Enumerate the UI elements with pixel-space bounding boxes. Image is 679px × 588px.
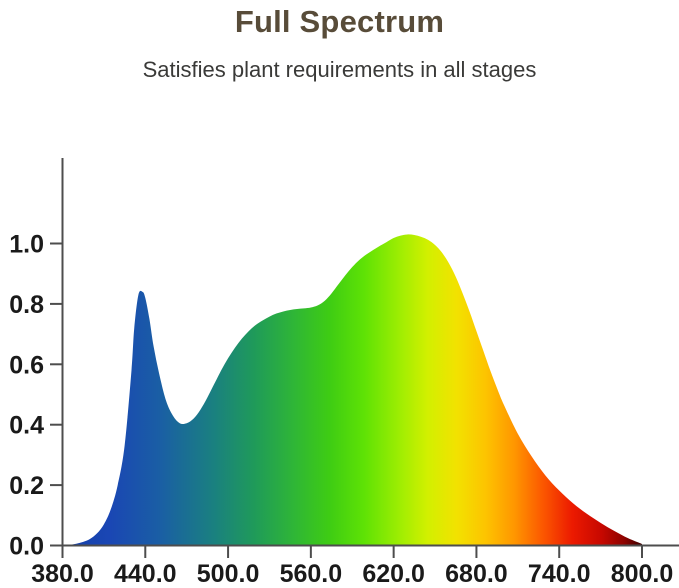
y-tick-label: 0.4	[9, 412, 44, 440]
chart-plot-area: 0.00.20.40.60.81.0 380.0440.0500.0560.06…	[0, 0, 679, 588]
x-tick-label: 680.0	[445, 560, 508, 588]
x-tick-label: 440.0	[114, 560, 177, 588]
x-tick-label: 560.0	[280, 560, 343, 588]
x-tick-label: 800.0	[611, 560, 674, 588]
x-axis-ticks: 380.0440.0500.0560.0620.0680.0740.0800.0	[31, 546, 673, 588]
spectrum-plot-svg: 0.00.20.40.60.81.0 380.0440.0500.0560.06…	[0, 0, 679, 588]
y-tick-label: 0.8	[9, 291, 44, 319]
x-tick-label: 500.0	[197, 560, 260, 588]
x-tick-label: 380.0	[31, 560, 94, 588]
y-tick-label: 0.0	[9, 533, 44, 561]
y-tick-label: 0.6	[9, 351, 44, 379]
spectrum-chart-page: Full Spectrum Satisfies plant requiremen…	[0, 0, 679, 588]
spectral-power-area	[63, 234, 643, 545]
x-tick-label: 740.0	[528, 560, 591, 588]
y-axis-ticks: 0.00.20.40.60.81.0	[9, 231, 62, 561]
y-tick-label: 1.0	[9, 231, 44, 259]
x-tick-label: 620.0	[362, 560, 425, 588]
y-tick-label: 0.2	[9, 472, 44, 500]
